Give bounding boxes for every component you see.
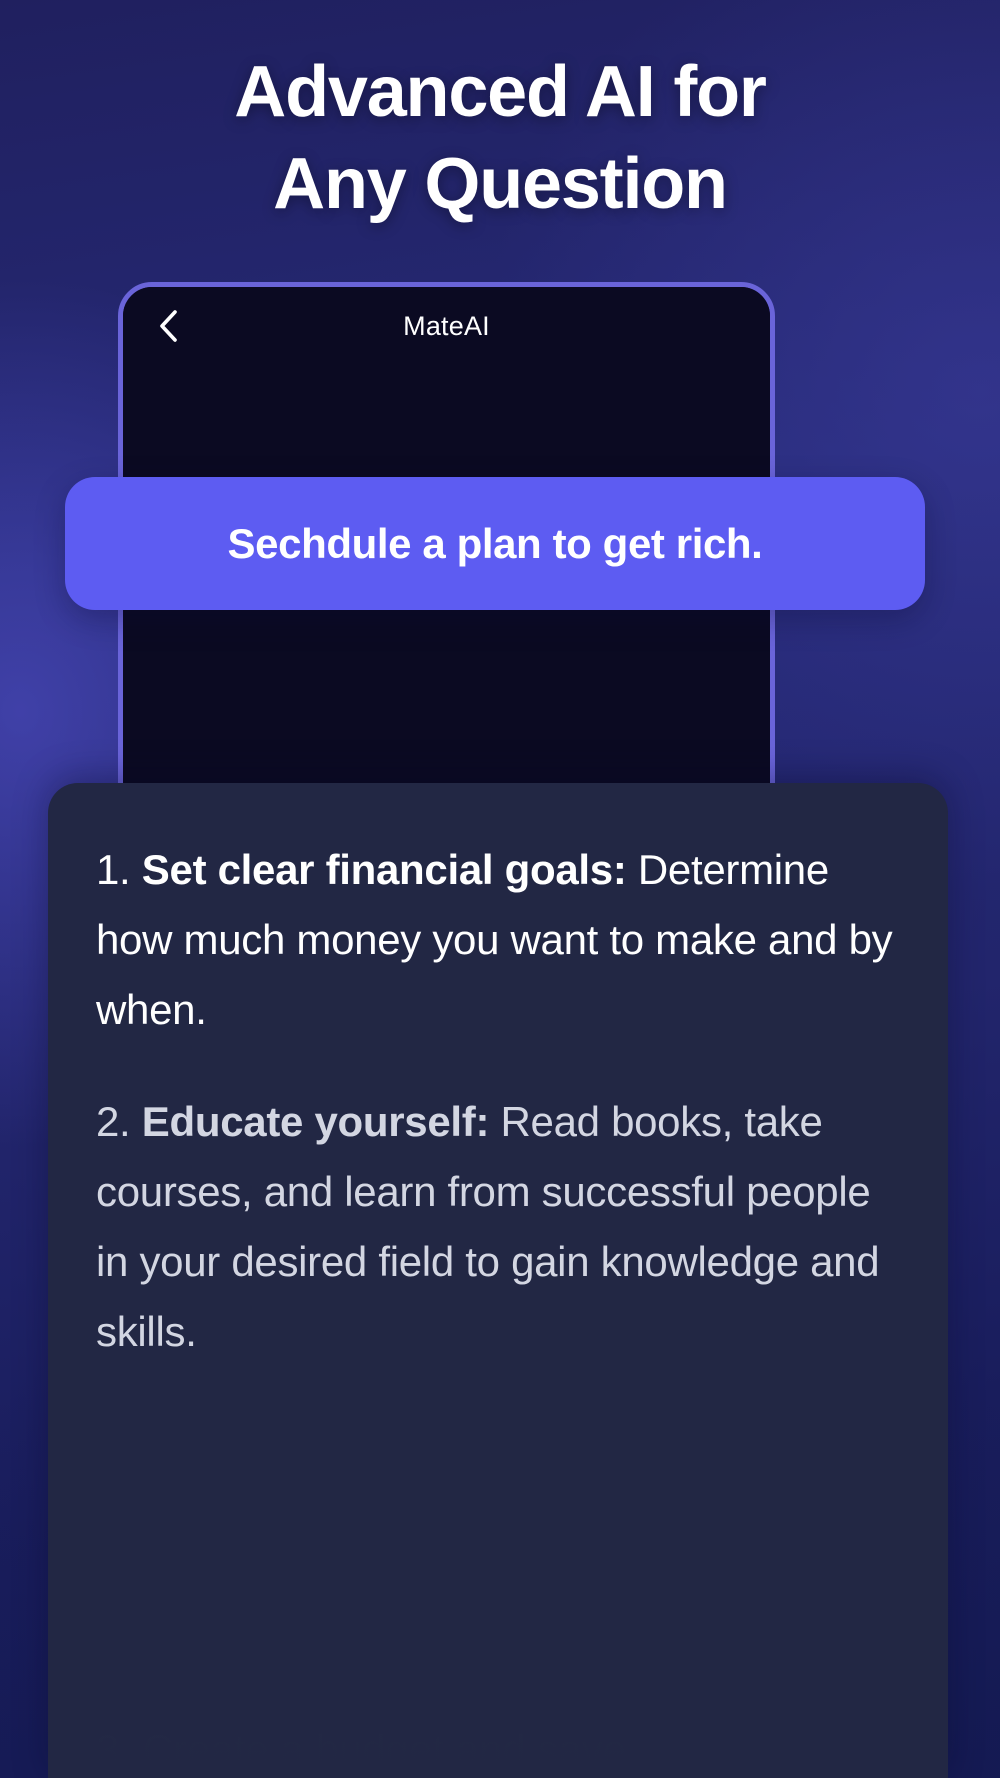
answer-truncated-hint: 3. Create a budget and save — [96, 1715, 876, 1778]
assistant-answer-card: 1. Set clear financial goals: Determine … — [48, 783, 948, 1778]
answer-item-number: 1. — [96, 846, 142, 893]
user-message-text: Sechdule a plan to get rich. — [228, 519, 763, 569]
answer-item-heading: Set clear financial goals: — [142, 846, 627, 893]
app-topbar: MateAI — [123, 287, 770, 365]
chevron-left-icon[interactable] — [151, 309, 185, 343]
app-title: MateAI — [403, 311, 490, 342]
answer-paragraph: 1. Set clear financial goals: Determine … — [96, 835, 900, 1045]
answer-fade-overlay — [48, 1348, 948, 1778]
answer-item-heading: Educate yourself: — [142, 1098, 489, 1145]
answer-paragraph: 2. Educate yourself: Read books, take co… — [96, 1087, 900, 1367]
answer-item-number: 2. — [96, 1098, 142, 1145]
user-message-bubble: Sechdule a plan to get rich. — [65, 477, 925, 610]
assistant-answer-body: 1. Set clear financial goals: Determine … — [48, 783, 948, 1367]
promo-screenshot-root: Advanced AI for Any Question MateAI Sech… — [0, 0, 1000, 1778]
page-title: Advanced AI for Any Question — [0, 46, 1000, 230]
